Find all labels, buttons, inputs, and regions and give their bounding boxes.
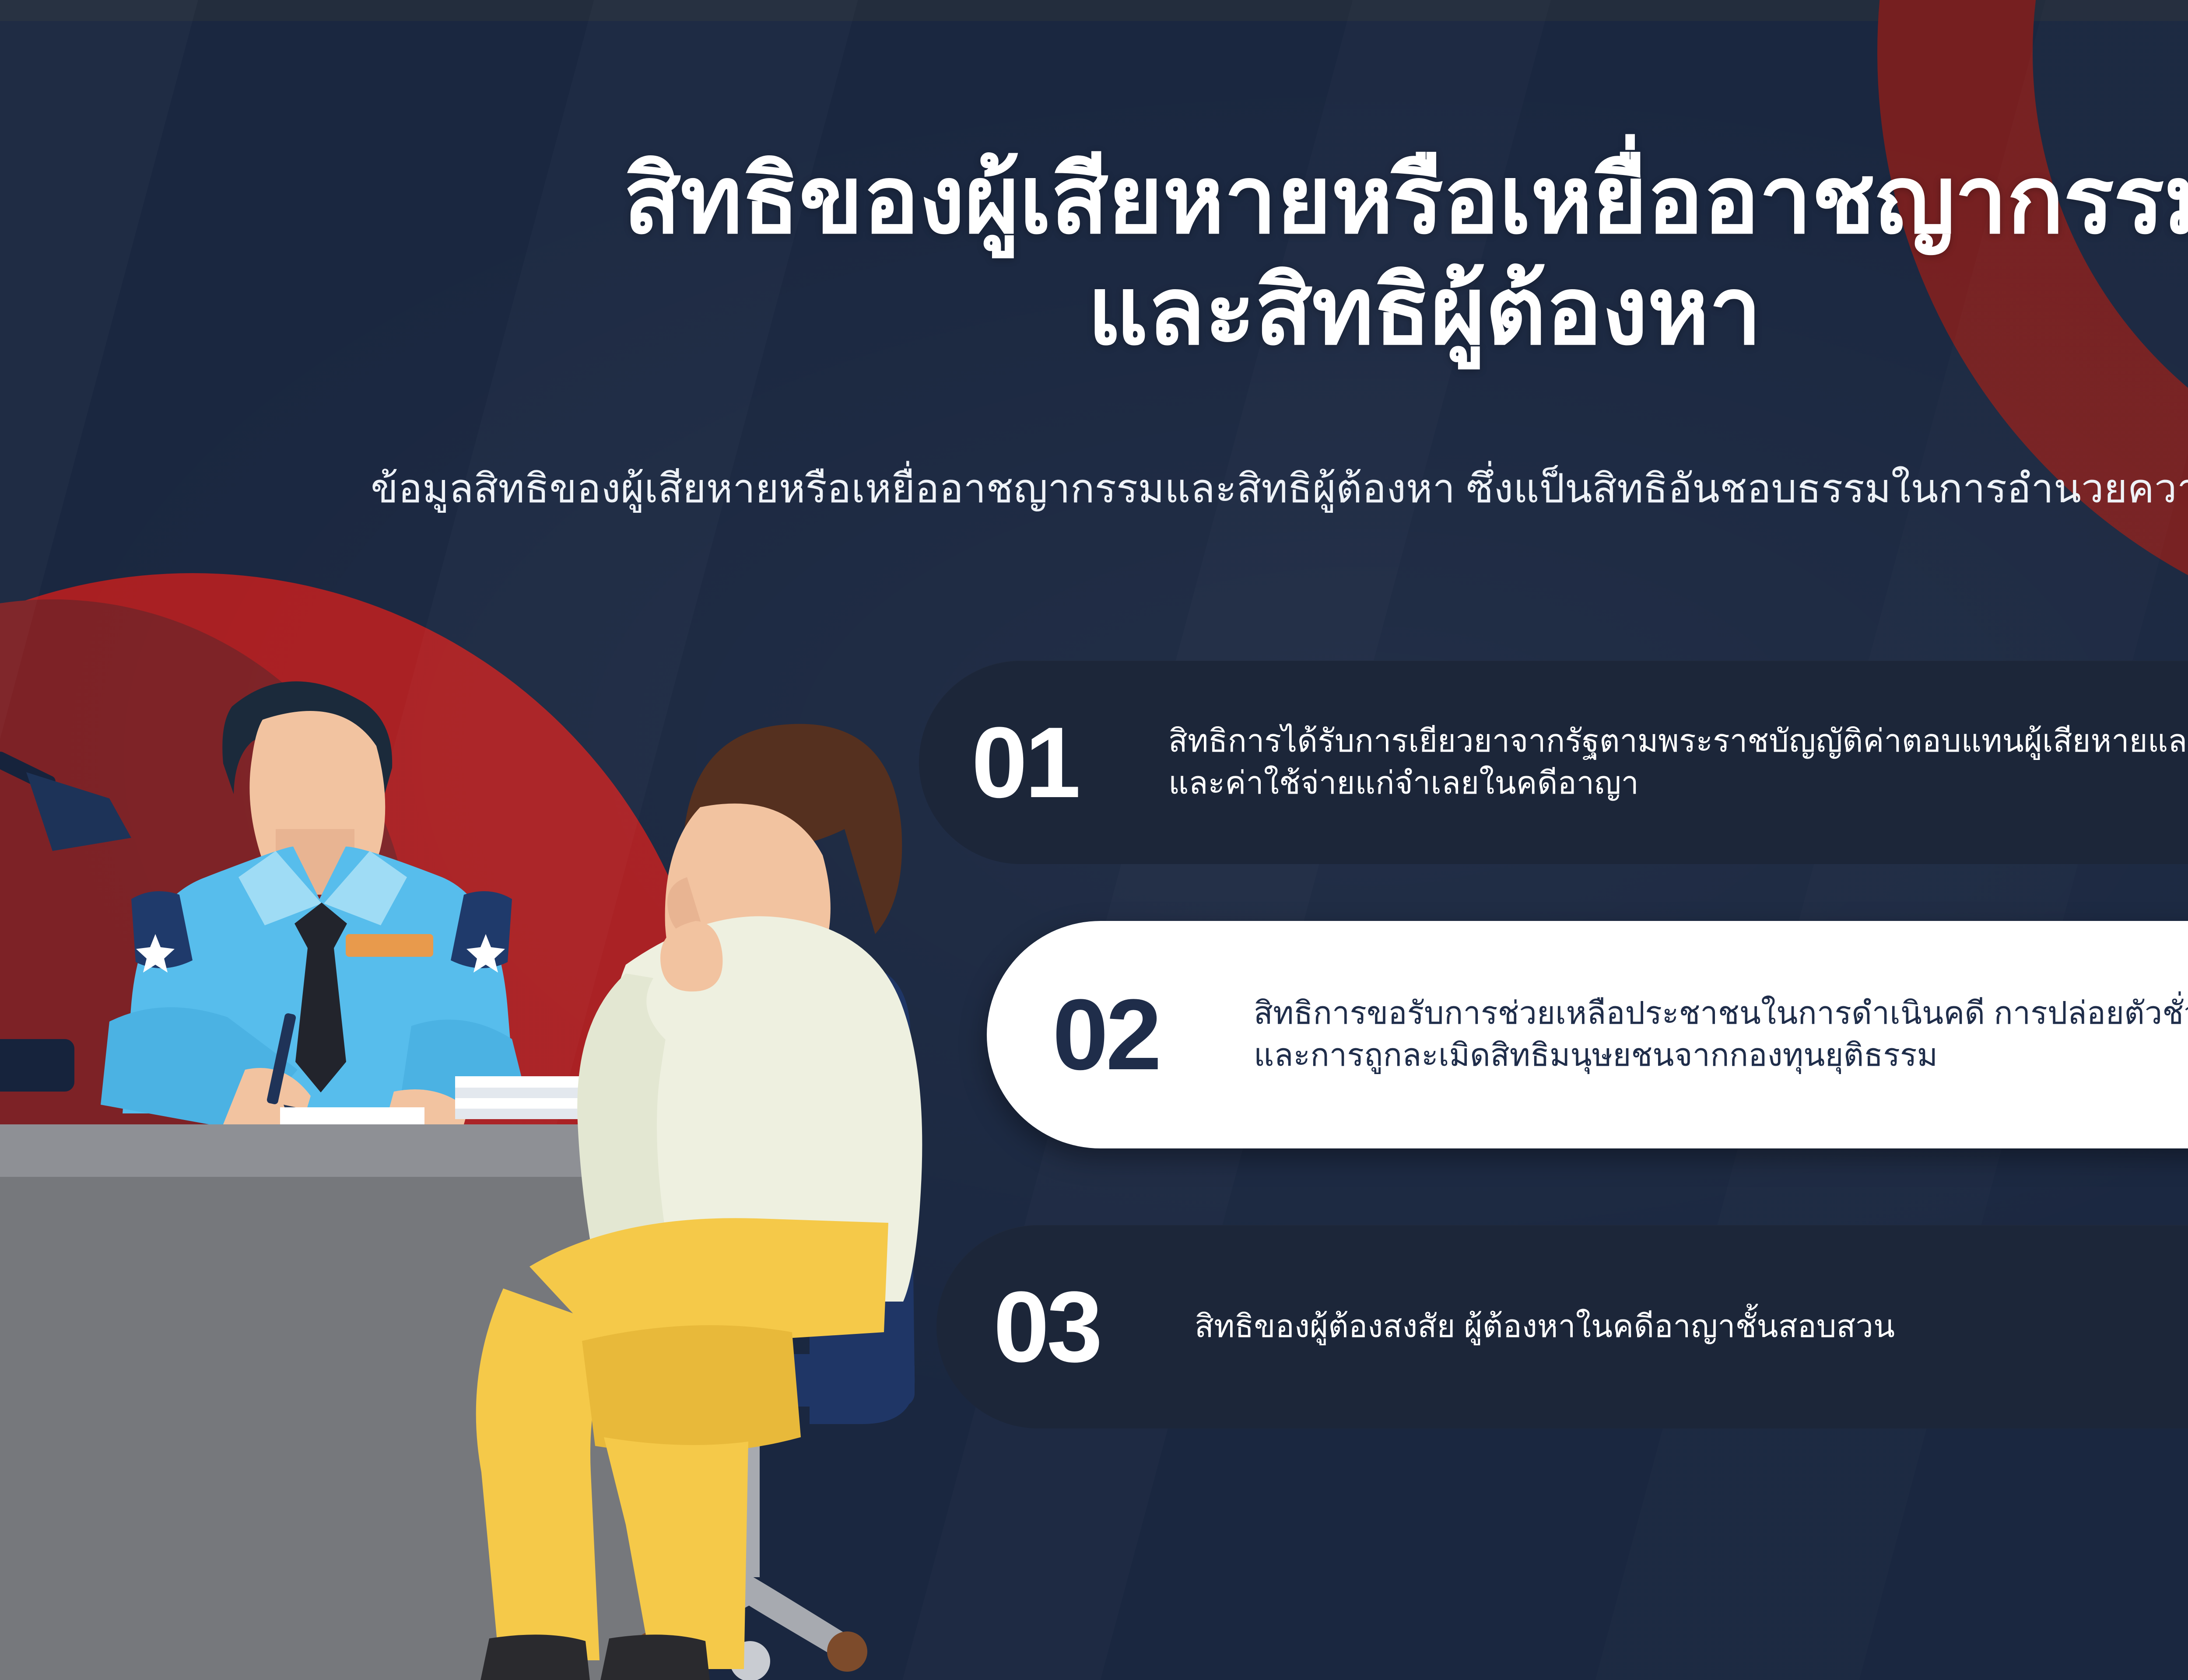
item-description-03: สิทธิของผู้ต้องสงสัย ผู้ต้องหาในคดีอาญาช… [1195, 1306, 1895, 1348]
item-description-02: สิทธิการขอรับการช่วยเหลือประชาชนในการดำเ… [1254, 993, 2188, 1077]
slide-canvas: สิทธิของผู้เสียหายหรือเหยื่ออาชญากรรม แล… [0, 0, 2188, 1680]
rights-list: 01 สิทธิการได้รับการเยียวยาจากรัฐตามพระร… [0, 0, 2188, 1680]
list-item-03[interactable]: 03 สิทธิของผู้ต้องสงสัย ผู้ต้องหาในคดีอา… [936, 1225, 2188, 1428]
list-item-01[interactable]: 01 สิทธิการได้รับการเยียวยาจากรัฐตามพระร… [919, 661, 2188, 864]
item-number-01: 01 [971, 712, 1155, 813]
item-description-01: สิทธิการได้รับการเยียวยาจากรัฐตามพระราชบ… [1168, 721, 2188, 805]
item-number-03: 03 [993, 1277, 1182, 1377]
list-item-02[interactable]: 02 สิทธิการขอรับการช่วยเหลือประชาชนในการ… [987, 921, 2188, 1148]
item-number-02: 02 [1052, 984, 1241, 1085]
